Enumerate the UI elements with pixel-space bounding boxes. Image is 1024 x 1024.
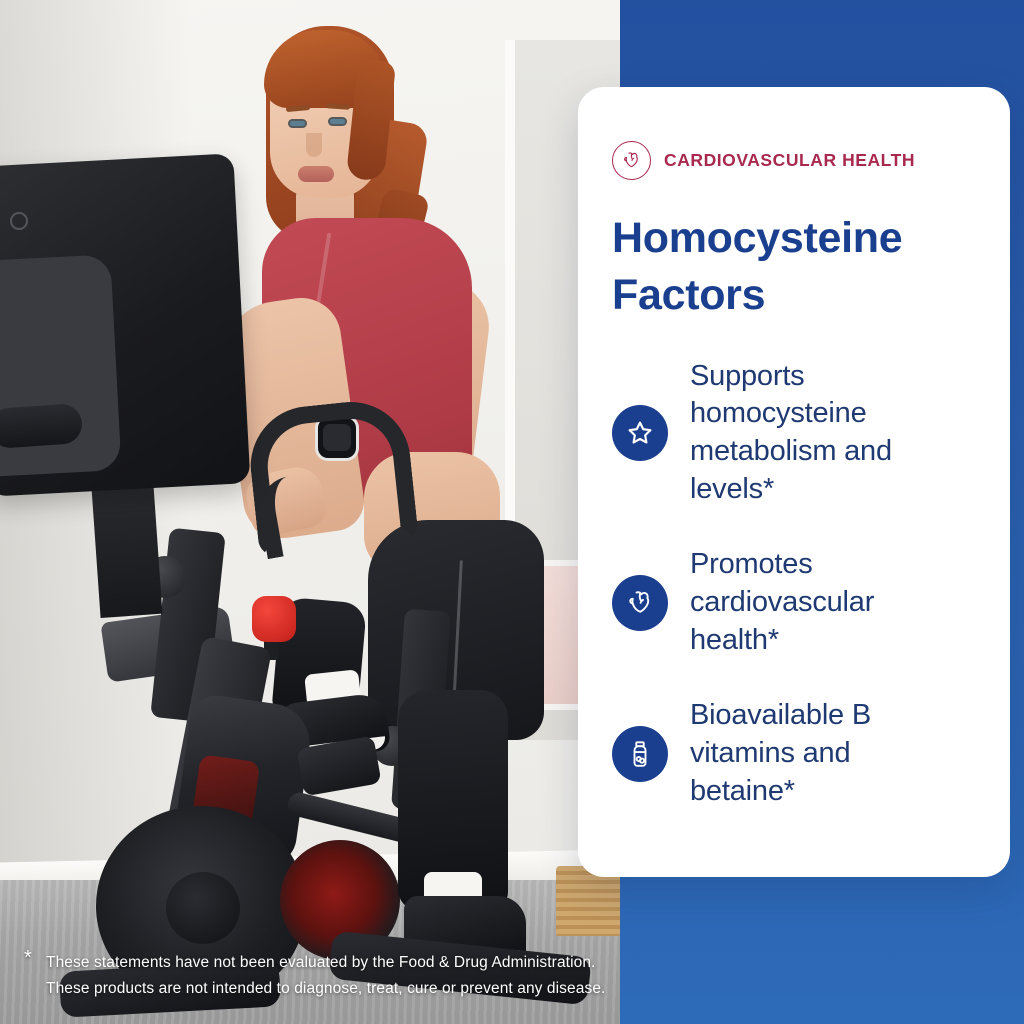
disclaimer-line-2: These products are not intended to diagn… [46,976,624,1002]
disclaimer-line-1: These statements have not been evaluated… [46,950,624,976]
category-badge: CARDIOVASCULAR HEALTH [612,141,976,180]
benefit-text: Supports homocysteine metabolism and lev… [690,358,950,509]
anatomical-heart-icon [612,575,668,631]
person-eye-right [328,117,347,126]
person-nose [306,133,322,157]
bike-screen-camera-icon [10,212,28,230]
disclaimer-asterisk: * [24,948,32,968]
benefit-item-supports-homocysteine: Supports homocysteine metabolism and lev… [612,358,976,509]
benefit-item-b-vitamins: Bioavailable B vitamins and betaine* [612,697,976,810]
category-badge-label: CARDIOVASCULAR HEALTH [664,150,915,171]
benefits-card: CARDIOVASCULAR HEALTH Homocysteine Facto… [578,87,1010,877]
benefit-item-cardiovascular-health: Promotes cardiovascular health* [612,546,976,659]
bike-resistance-knob [252,596,296,642]
bike-flywheel-hub [166,872,240,944]
bike-screen-stem [92,484,163,618]
supplement-bottle-icon [612,726,668,782]
star-icon [612,405,668,461]
person-eye-left [288,119,307,128]
anatomical-heart-icon [612,141,651,180]
disclaimer: * These statements have not been evaluat… [24,950,624,1002]
bike-handlebar [245,396,419,558]
benefit-text: Bioavailable B vitamins and betaine* [690,697,950,810]
page-title: Homocysteine Factors [612,210,952,324]
benefit-text: Promotes cardiovascular health* [690,546,950,659]
promo-graphic: * These statements have not been evaluat… [0,0,1024,1024]
person-lips [298,166,334,182]
hero-photo [0,0,620,1024]
